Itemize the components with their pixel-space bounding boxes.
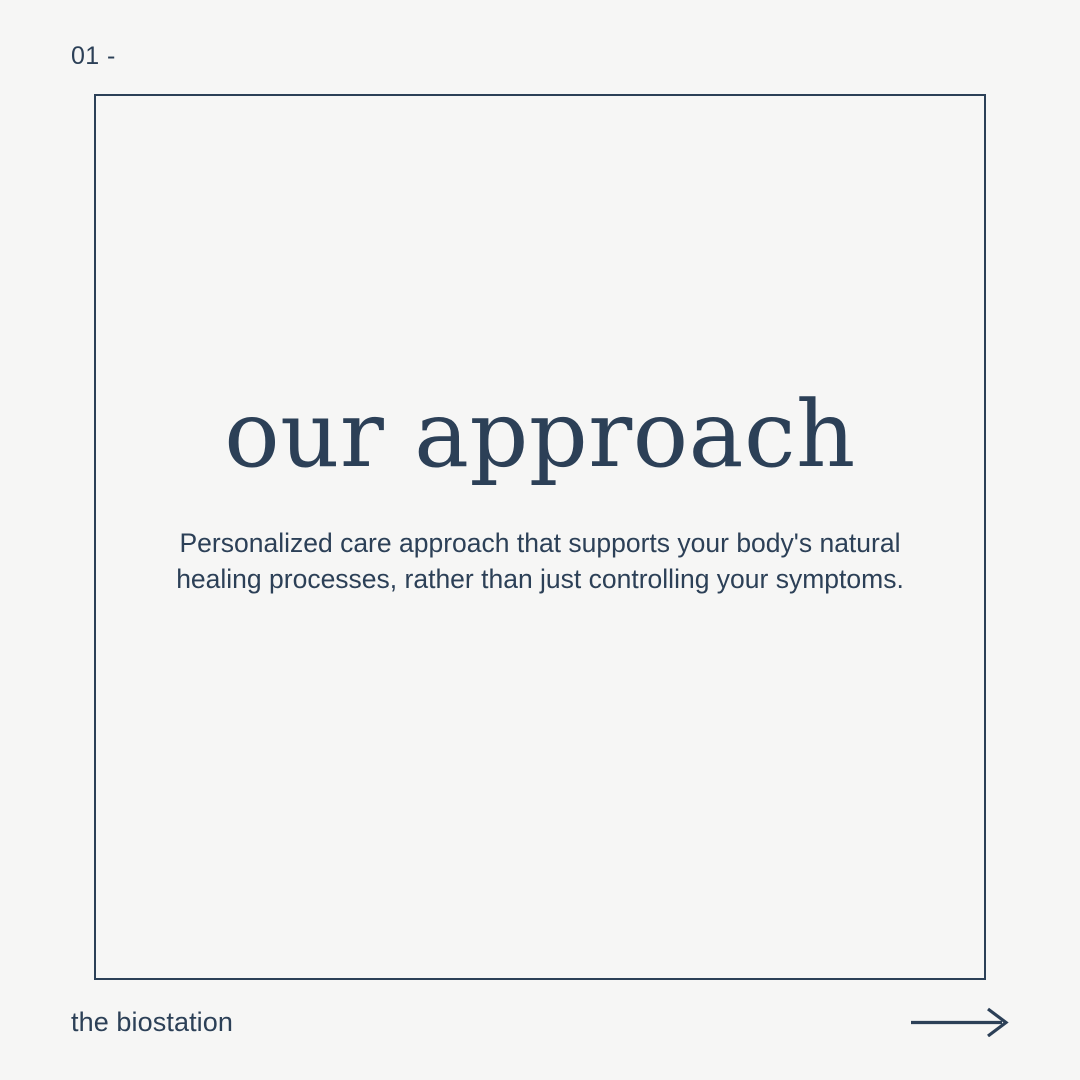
body-copy: Personalized care approach that supports… bbox=[176, 525, 904, 597]
content-frame-inner: our approach Personalized care approach … bbox=[96, 387, 984, 598]
arrow-right-icon bbox=[910, 1007, 1010, 1037]
content-frame: our approach Personalized care approach … bbox=[94, 94, 986, 980]
headline: our approach bbox=[224, 387, 856, 484]
body-copy-line: Personalized care approach that supports… bbox=[176, 525, 904, 561]
brand-wordmark: the biostation bbox=[71, 1009, 233, 1036]
slide-index-label: 01 - bbox=[71, 44, 116, 69]
slide-canvas: 01 - our approach Personalized care appr… bbox=[0, 0, 1080, 1080]
next-slide-button[interactable] bbox=[910, 1007, 1010, 1037]
body-copy-line: healing processes, rather than just cont… bbox=[176, 561, 904, 597]
slide-footer: the biostation bbox=[71, 1000, 1010, 1044]
